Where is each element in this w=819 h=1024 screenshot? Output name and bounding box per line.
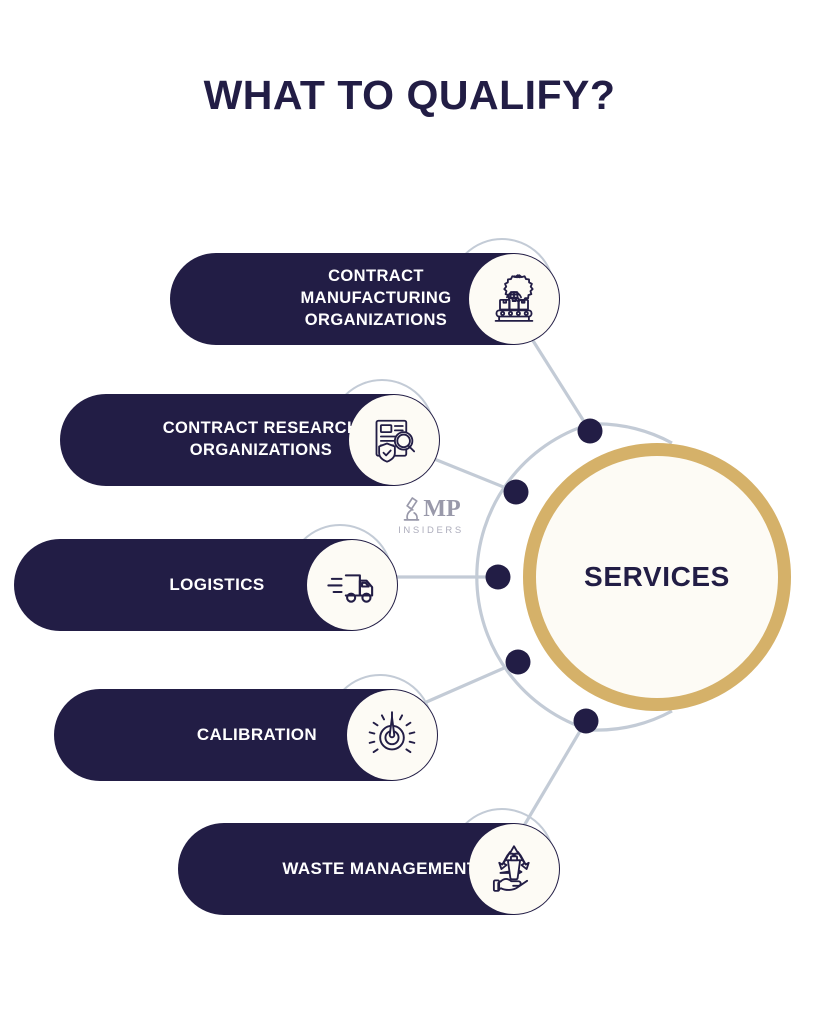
node-calibration[interactable]: CALIBRATION (54, 689, 438, 781)
spoke-4 (415, 662, 518, 707)
node-dot-2 (504, 480, 529, 505)
node-dot-1 (578, 419, 603, 444)
watermark-gmp-insiders: MP INSIDERS (383, 495, 479, 536)
node-contract-manufacturing-organizations[interactable]: CONTRACT MANUFACTURING ORGANIZATIONS (170, 253, 560, 345)
node-dot-5 (574, 709, 599, 734)
node-waste-management[interactable]: WASTE MANAGEMENT (178, 823, 560, 915)
node-dot-4 (506, 650, 531, 675)
node-logistics[interactable]: LOGISTICS (14, 539, 398, 631)
node-contract-research-organizations[interactable]: CONTRACT RESEARCH ORGANIZATIONS (60, 394, 440, 486)
gauge-dial-icon (347, 690, 437, 780)
node-dot-3 (486, 565, 511, 590)
hub-services[interactable]: SERVICES (523, 443, 791, 711)
watermark-brand: MP (423, 497, 460, 521)
hub-arc-bottom-tail (590, 711, 672, 730)
delivery-truck-icon (307, 540, 397, 630)
hub-label: SERVICES (584, 561, 730, 593)
recycling-hand-icon (469, 824, 559, 914)
microscope-icon (401, 495, 422, 522)
watermark-tagline: INSIDERS (383, 525, 479, 536)
infographic-canvas: WHAT TO QUALIFY? CONTRACT MANUFACTURING … (0, 0, 819, 1024)
document-magnifier-shield-icon (349, 395, 439, 485)
hub-arc-top-tail (590, 424, 672, 443)
factory-gear-conveyor-icon (469, 254, 559, 344)
